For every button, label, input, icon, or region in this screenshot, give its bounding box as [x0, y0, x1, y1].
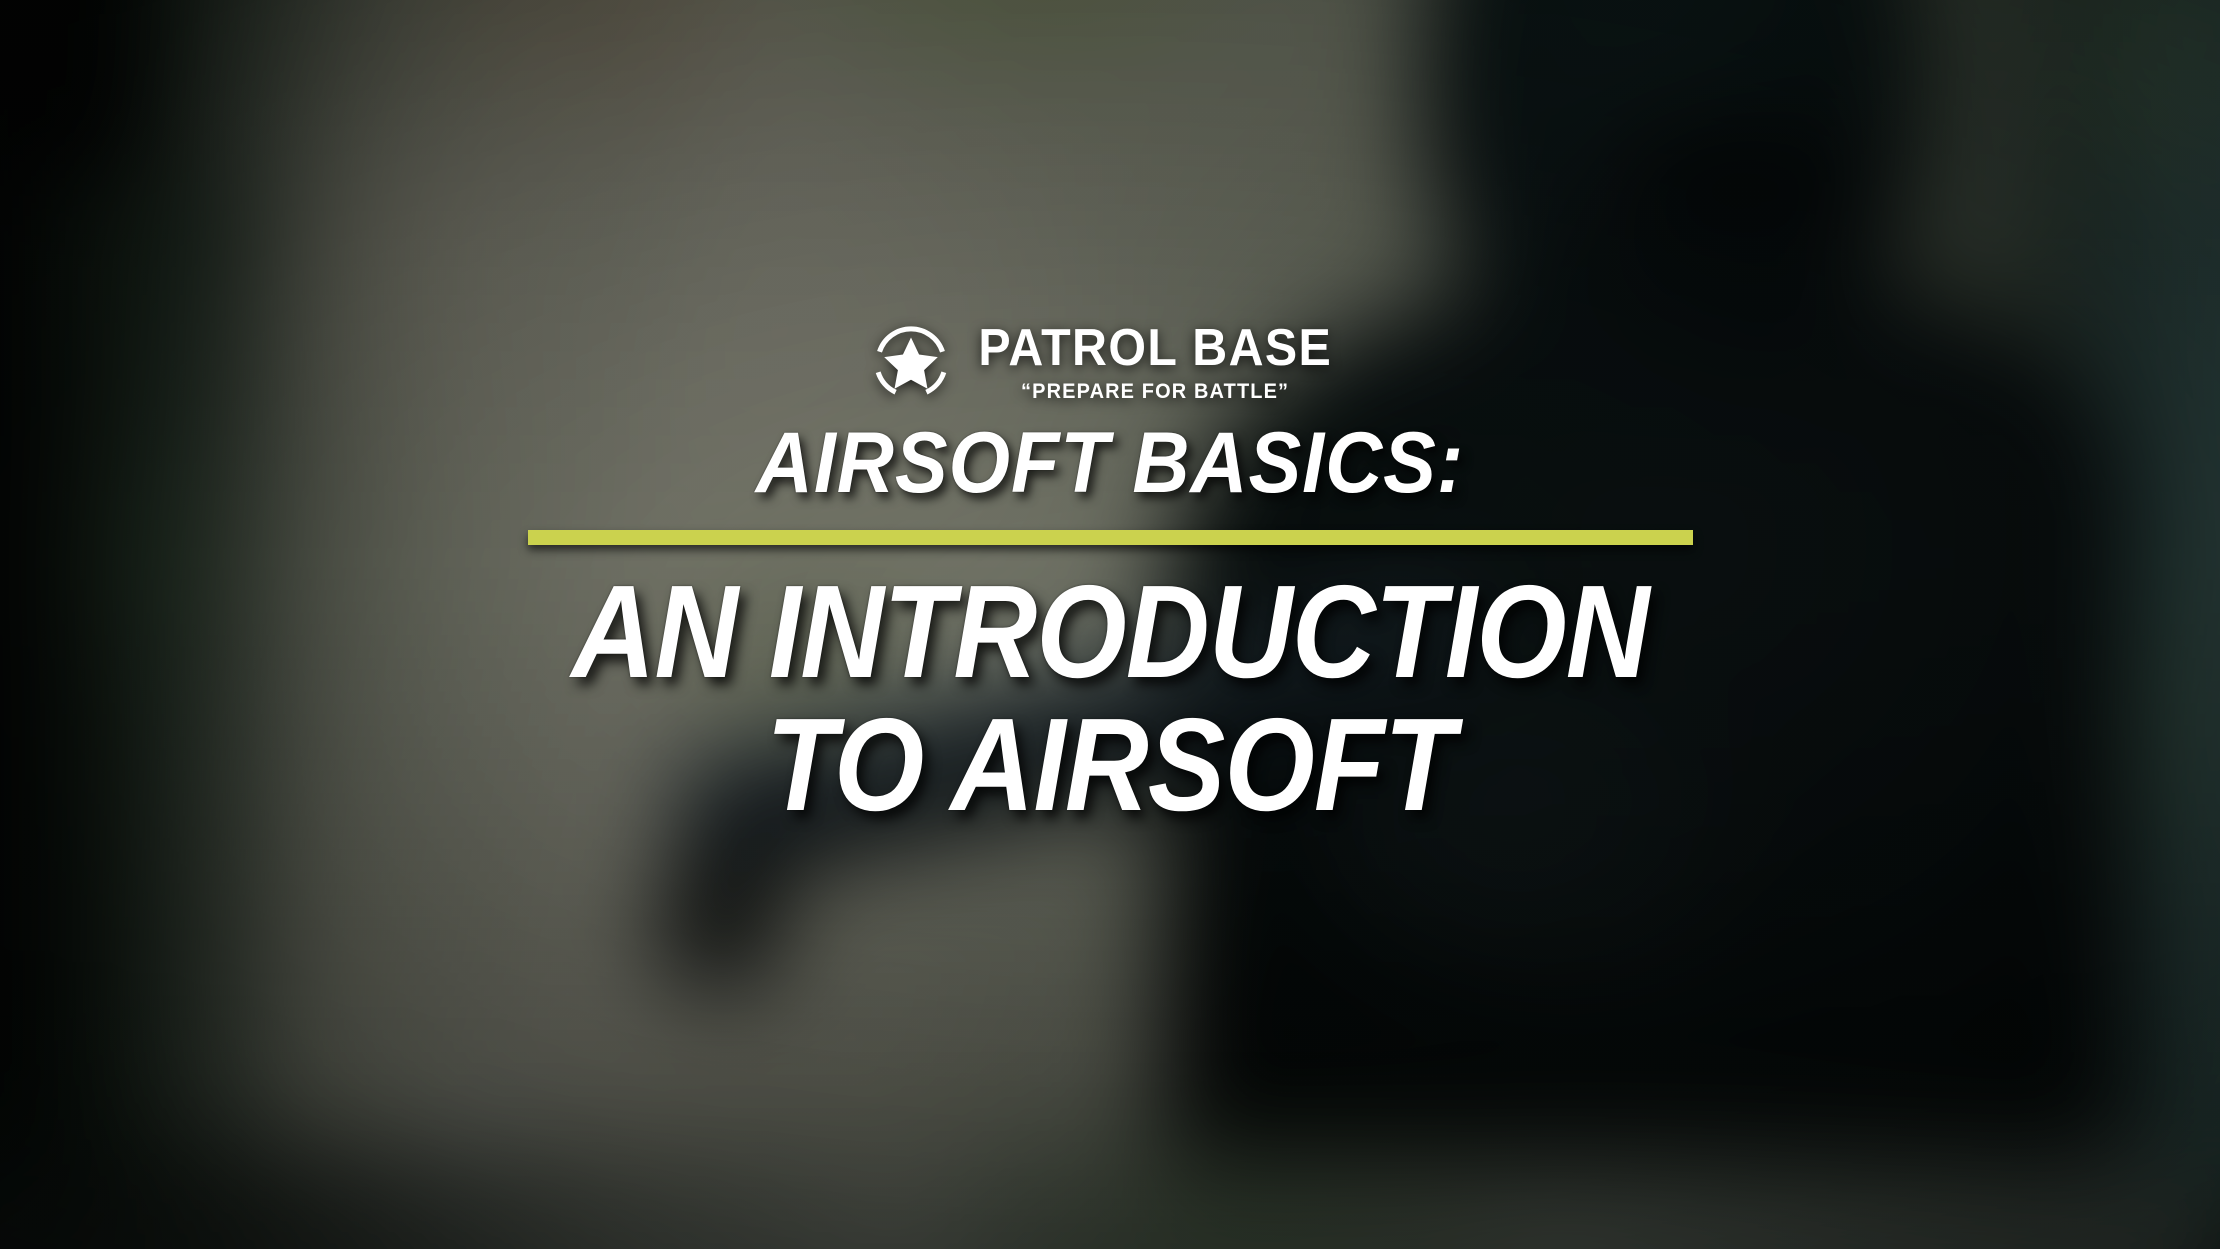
brand-logo: PATROL BASE “PREPARE FOR BATTLE”	[875, 322, 1346, 402]
title-card: PATROL BASE “PREPARE FOR BATTLE” AIRSOFT…	[0, 0, 2220, 1249]
title-card-content: PATROL BASE “PREPARE FOR BATTLE” AIRSOFT…	[0, 0, 2220, 1249]
army-star-emblem-icon	[875, 326, 947, 398]
brand-name: PATROL BASE	[978, 322, 1332, 374]
accent-divider	[528, 530, 1693, 545]
title-headline-line-2: TO AIRSOFT	[766, 702, 1454, 827]
title-headline-line-1: AN INTRODUCTION	[571, 569, 1648, 694]
brand-tagline: “PREPARE FOR BATTLE”	[1021, 381, 1289, 402]
title-eyebrow: AIRSOFT BASICS:	[756, 420, 1464, 508]
brand-logo-wordmark: PATROL BASE “PREPARE FOR BATTLE”	[965, 322, 1346, 402]
title-headline: AN INTRODUCTION TO AIRSOFT	[498, 569, 1722, 828]
